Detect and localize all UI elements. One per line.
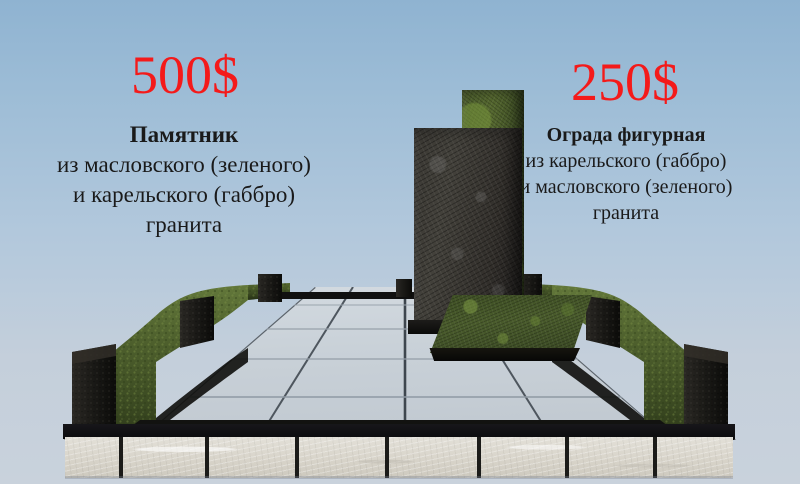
foundation-seam [119,437,123,478]
foundation-seam [477,437,481,478]
grave-slab-edge [428,348,580,361]
foundation-seam [205,437,209,478]
grave-slab-green-granite [430,295,592,353]
granite-fence [0,0,800,484]
foundation-seam [653,437,657,478]
foundation-seam [565,437,569,478]
monument-showcase-image: 500$ Памятник из масловского (зеленого) … [0,0,800,484]
foundation-seam [295,437,299,478]
foundation-plinth [65,437,733,478]
foundation-shadow-line [65,476,733,479]
foundation-seam [385,437,389,478]
